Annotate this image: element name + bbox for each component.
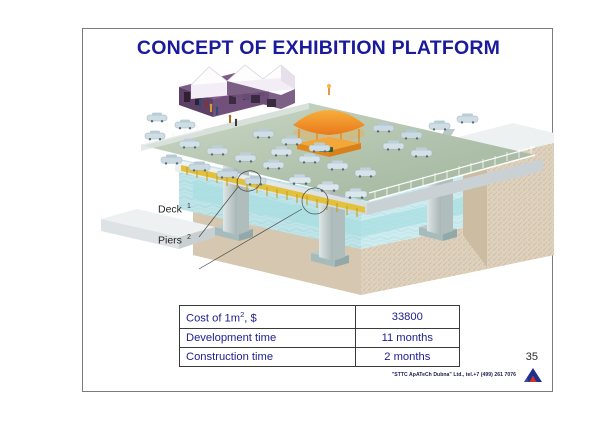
callout-label-piers: Piers2 [158,234,191,247]
table-cell-value: 33800 [355,306,459,329]
slide-title: CONCEPT OF EXHIBITION PLATFORM [83,37,554,60]
specifications-table: Cost of 1m2, $ 33800 Development time 11… [179,305,460,367]
cost-label-tail: , $ [244,313,256,325]
table-cell-key: Development time [180,328,356,347]
slide-number: 35 [526,351,538,363]
table-cell-value: 2 months [355,347,459,366]
callout-number-piers: 2 [187,234,191,241]
table-row: Construction time 2 months [180,347,460,366]
slide-frame: CONCEPT OF EXHIBITION PLATFORM [82,28,553,392]
cost-label: Cost of 1m [186,313,240,325]
callout-label-piers-text: Piers [158,235,182,247]
table-row: Development time 11 months [180,328,460,347]
callout-label-deck-text: Deck [158,204,182,216]
table-cell-key: Construction time [180,347,356,366]
callout-number-deck: 1 [187,203,191,210]
table-cell-key: Cost of 1m2, $ [180,306,356,329]
screenshot-canvas: CONCEPT OF EXHIBITION PLATFORM [0,0,600,424]
platform-illustration [83,59,554,299]
footer-contact-text: "STTC ApATeCh Dubna" Ltd., tel.+7 (499) … [392,372,516,378]
callout-label-deck: Deck1 [158,203,191,216]
exhibition-tents [179,65,295,117]
table-row: Cost of 1m2, $ 33800 [180,306,460,329]
apatech-logo [522,367,544,383]
table-cell-value: 11 months [355,328,459,347]
